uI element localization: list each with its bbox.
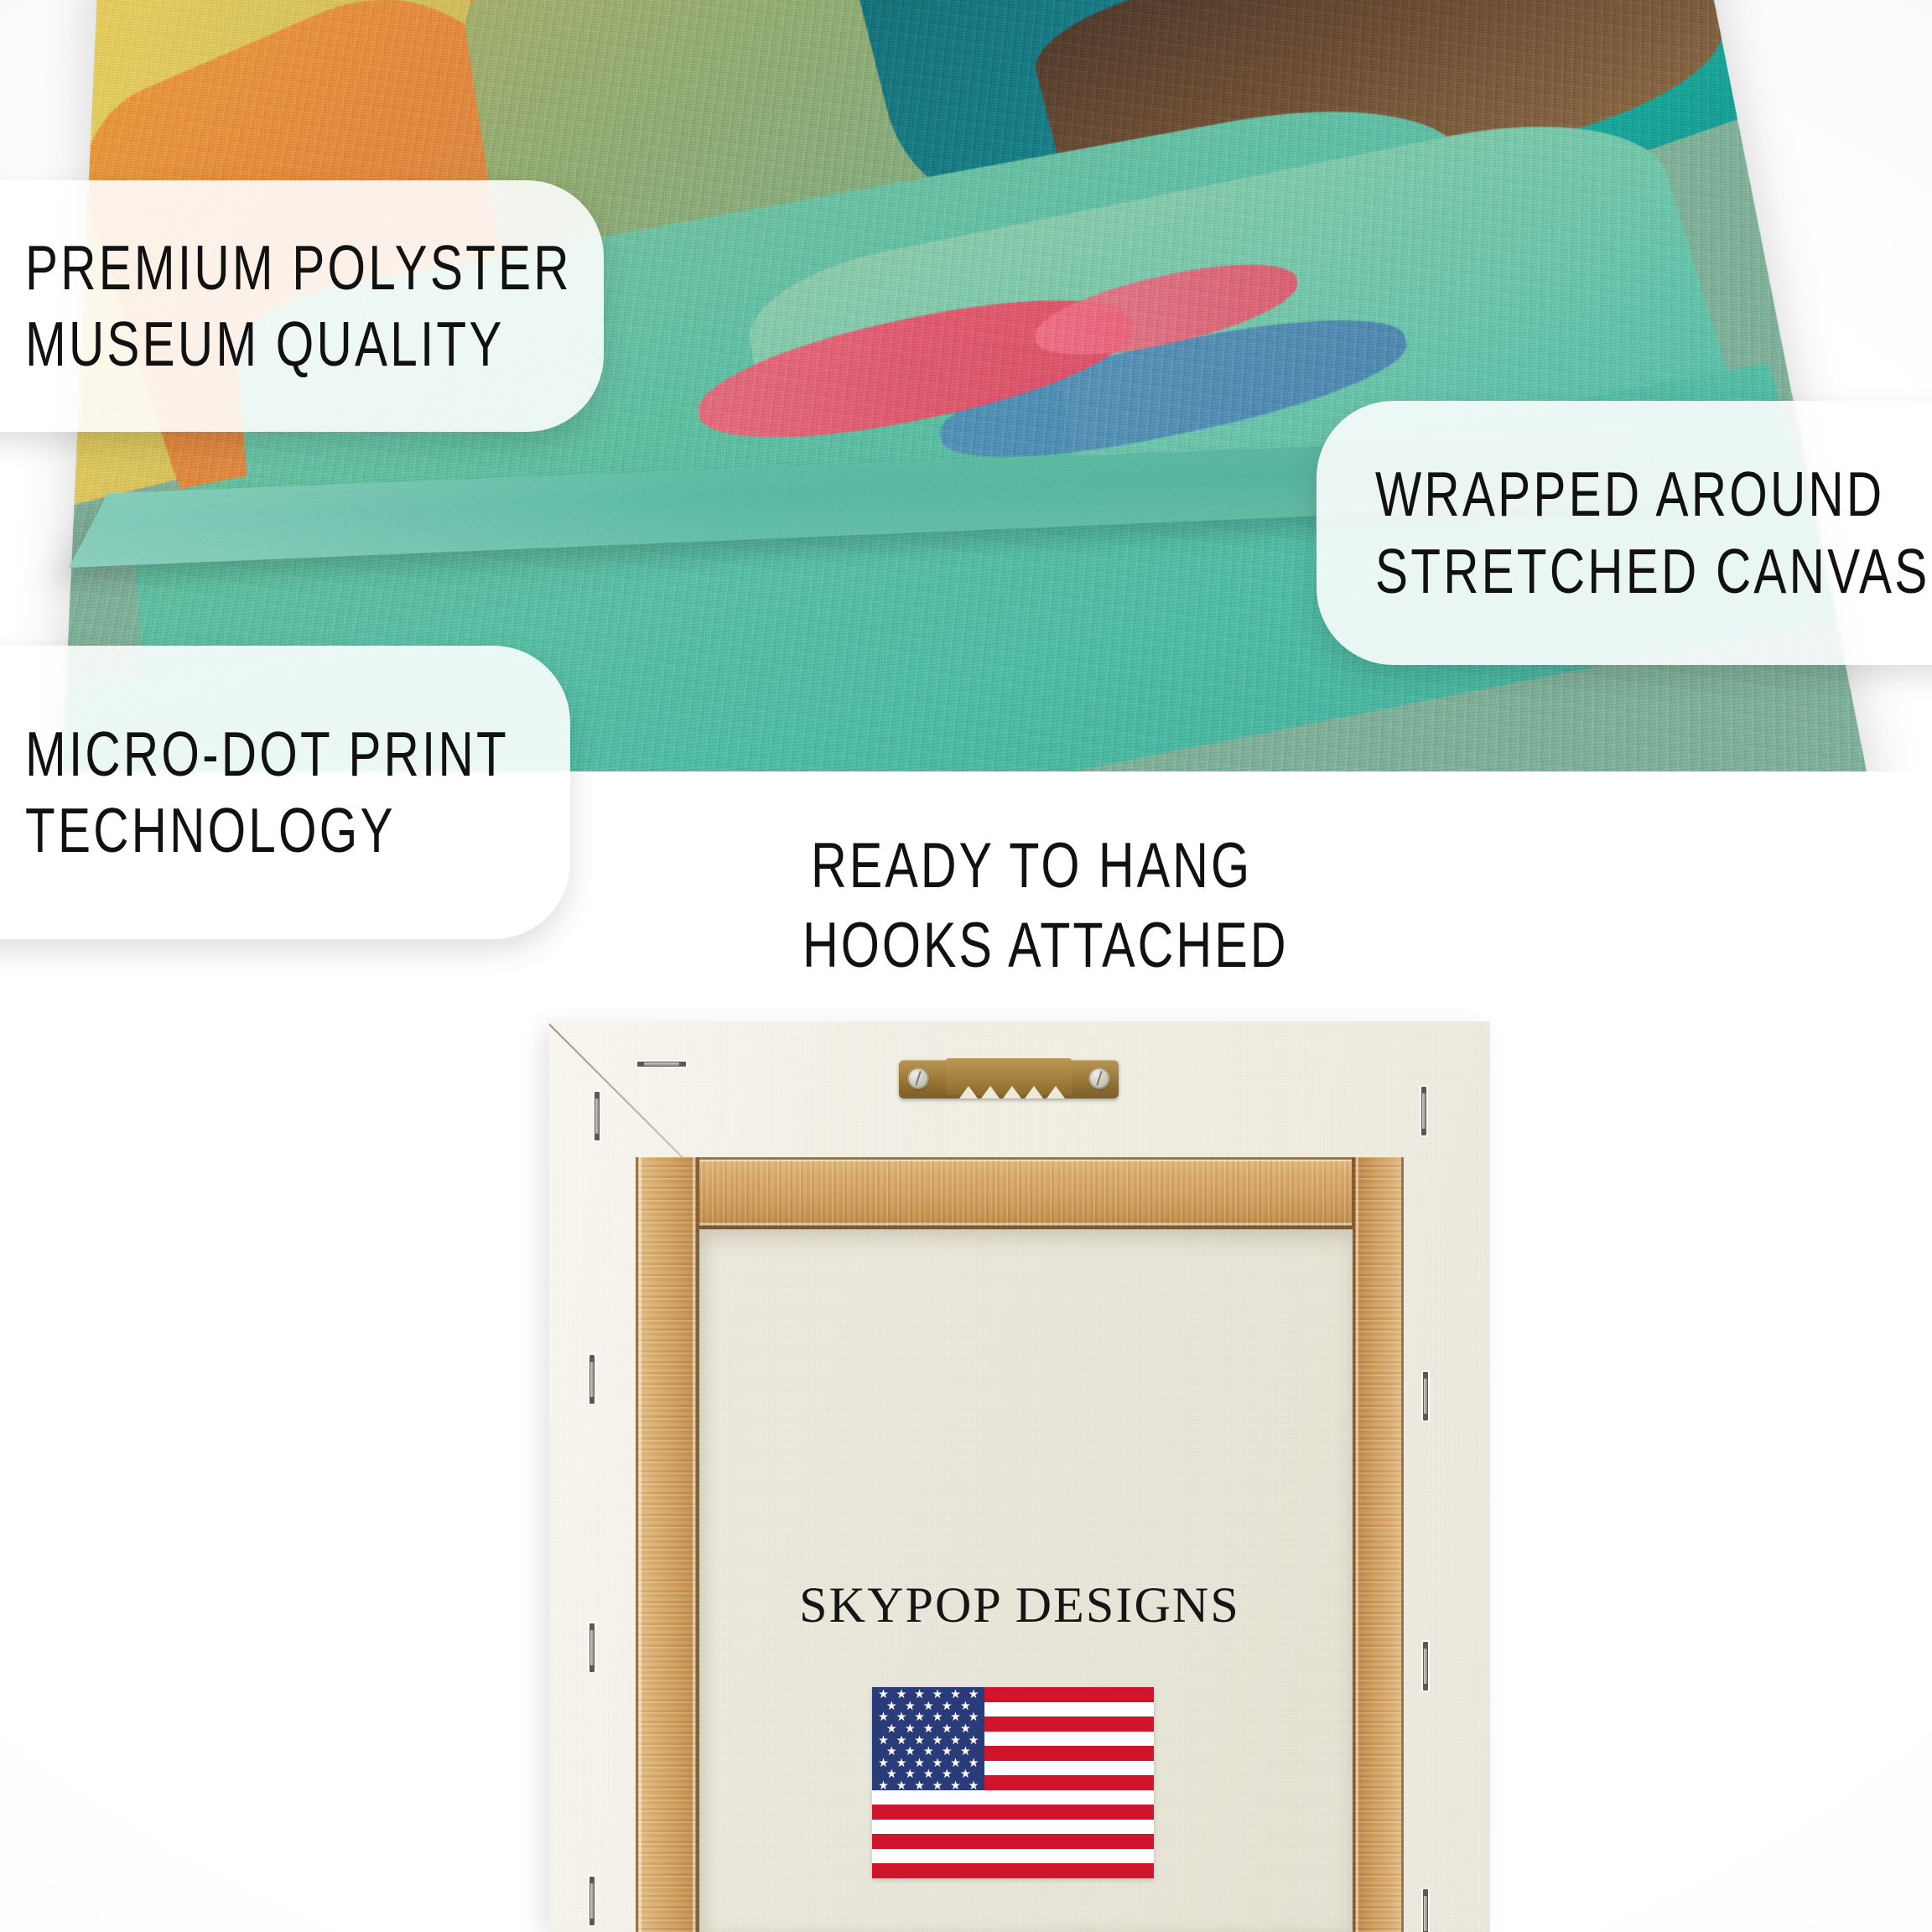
flag-star: ★ (932, 1689, 943, 1701)
flag-star-row: ★★★★★ (872, 1768, 984, 1780)
hanger-screw-right (1088, 1067, 1110, 1089)
paint-field-teal-dark (769, 0, 1550, 240)
paint-field-orange (412, 0, 1076, 167)
feature-line-2: STRETCHED CANVAS (1375, 533, 1892, 610)
flag-star: ★ (969, 1780, 979, 1792)
hanger-tooth (1025, 1086, 1043, 1098)
flag-star: ★ (950, 1780, 961, 1792)
brand-label: SKYPOP DESIGNS (549, 1576, 1490, 1634)
flag-star: ★ (896, 1689, 907, 1701)
flag-star: ★ (914, 1735, 925, 1747)
flag-star: ★ (905, 1746, 916, 1758)
flag-star: ★ (896, 1780, 907, 1792)
flag-star-row: ★★★★★★ (872, 1735, 984, 1747)
flag-star: ★ (950, 1758, 961, 1769)
staple (1421, 1087, 1426, 1135)
ready-to-hang-caption: READY TO HANG HOOKS ATTACHED (738, 826, 1325, 985)
flag-stripe (872, 1834, 1154, 1849)
flag-star: ★ (960, 1701, 971, 1712)
flag-star: ★ (923, 1701, 934, 1712)
sawtooth-hanger-icon (899, 1060, 1119, 1098)
staple (1423, 1642, 1428, 1690)
wood-grain (636, 1157, 1404, 1229)
united-states-flag-icon: ★★★★★★★★★★★★★★★★★★★★★★★★★★★★★★★★★★★★★★★★… (872, 1687, 1154, 1878)
flag-star: ★ (942, 1701, 953, 1712)
flag-star-row: ★★★★★★ (872, 1758, 984, 1769)
bar-shadow-line (636, 1157, 638, 1932)
flag-star: ★ (878, 1711, 889, 1723)
staple (589, 1355, 595, 1404)
staple (1423, 1889, 1428, 1932)
paint-field-teal-edge (1356, 0, 1877, 183)
flag-star: ★ (923, 1768, 934, 1780)
hanger-screw-left (907, 1067, 929, 1089)
ready-caption-line-2: HOOKS ATTACHED (802, 906, 1260, 985)
flag-stripe (872, 1805, 1154, 1820)
flag-star: ★ (960, 1723, 971, 1735)
feature-line-1: MICRO-DOT PRINT (25, 716, 450, 793)
flag-star: ★ (905, 1701, 916, 1712)
flag-star: ★ (950, 1711, 961, 1723)
staple (589, 1877, 595, 1925)
staple (1423, 1372, 1428, 1420)
hanger-tooth (1003, 1086, 1021, 1098)
flag-star: ★ (905, 1768, 916, 1780)
flag-star-row: ★★★★★★ (872, 1711, 984, 1723)
flag-star: ★ (914, 1780, 925, 1792)
flag-canton: ★★★★★★★★★★★★★★★★★★★★★★★★★★★★★★★★★★★★★★★★… (872, 1687, 984, 1790)
flag-star: ★ (878, 1780, 889, 1792)
hanger-tooth (981, 1086, 1000, 1098)
flag-star: ★ (886, 1701, 897, 1712)
flag-star: ★ (942, 1723, 953, 1735)
flag-star: ★ (942, 1746, 953, 1758)
flag-star: ★ (969, 1735, 979, 1747)
paint-field-brown (1024, 0, 1745, 250)
wood-grain (1352, 1157, 1404, 1932)
flag-star: ★ (950, 1689, 961, 1701)
flag-star: ★ (932, 1758, 943, 1769)
flag-star-row: ★★★★★ (872, 1701, 984, 1712)
feature-badge-premium-polyster: PREMIUM POLYSTER MUSEUM QUALITY (0, 180, 604, 432)
flag-star: ★ (950, 1735, 961, 1747)
flag-star: ★ (896, 1711, 907, 1723)
flag-star: ★ (886, 1746, 897, 1758)
flag-star: ★ (932, 1735, 943, 1747)
bar-highlight (1356, 1157, 1358, 1932)
flag-star: ★ (942, 1768, 953, 1780)
bar-highlight-bottom (636, 1223, 1404, 1225)
flag-star: ★ (923, 1723, 934, 1735)
flag-star: ★ (878, 1758, 889, 1769)
flag-star: ★ (923, 1746, 934, 1758)
stretcher-bar-top (636, 1157, 1404, 1229)
flag-stripe (872, 1863, 1154, 1878)
flag-star: ★ (914, 1689, 925, 1701)
staple (595, 1092, 600, 1140)
bar-highlight-right (693, 1157, 695, 1932)
wood-grain (636, 1157, 699, 1932)
hanger-tooth (959, 1086, 978, 1098)
feature-line-1: PREMIUM POLYSTER (25, 230, 476, 307)
flag-star: ★ (932, 1711, 943, 1723)
flag-star-row: ★★★★★★ (872, 1689, 984, 1701)
flag-star: ★ (878, 1689, 889, 1701)
feature-line-1: WRAPPED AROUND (1375, 456, 1892, 533)
feature-badge-wrapped-around: WRAPPED AROUND STRETCHED CANVAS (1317, 401, 1932, 665)
flag-star: ★ (960, 1768, 971, 1780)
flag-star: ★ (969, 1689, 979, 1701)
paint-field-teal-bright (1074, 0, 1863, 181)
hanger-tooth (1046, 1086, 1065, 1098)
feature-badge-micro-dot-print: MICRO-DOT PRINT TECHNOLOGY (0, 646, 570, 939)
product-infographic: PREMIUM POLYSTER MUSEUM QUALITY MICRO-DO… (0, 0, 1932, 1932)
flag-star: ★ (969, 1711, 979, 1723)
flag-star-row: ★★★★★ (872, 1723, 984, 1735)
flag-star: ★ (878, 1735, 889, 1747)
flag-star: ★ (960, 1746, 971, 1758)
paint-field-pink (690, 274, 1143, 465)
flag-star: ★ (896, 1758, 907, 1769)
flag-star: ★ (914, 1758, 925, 1769)
flag-star: ★ (905, 1723, 916, 1735)
flag-star: ★ (896, 1735, 907, 1747)
stretcher-bar-left (636, 1157, 699, 1932)
flag-star-row: ★★★★★ (872, 1746, 984, 1758)
staple (637, 1062, 686, 1067)
flag-star: ★ (886, 1768, 897, 1780)
feature-line-2: MUSEUM QUALITY (25, 306, 476, 383)
brand-name: SKYPOP DESIGNS (549, 1576, 1490, 1634)
paint-field-pink-2 (1027, 247, 1305, 372)
flag-star: ★ (932, 1780, 943, 1792)
bar-highlight (639, 1157, 641, 1932)
ready-caption-line-1: READY TO HANG (802, 826, 1260, 906)
flag-star: ★ (969, 1758, 979, 1769)
bar-shadow-line (636, 1157, 1404, 1160)
flag-star-row: ★★★★★★ (872, 1780, 984, 1792)
stretcher-bar-right (1352, 1157, 1404, 1932)
feature-line-2: TECHNOLOGY (25, 792, 450, 870)
flag-star: ★ (886, 1723, 897, 1735)
flag-star: ★ (914, 1711, 925, 1723)
bar-shadow-right (1401, 1157, 1404, 1932)
